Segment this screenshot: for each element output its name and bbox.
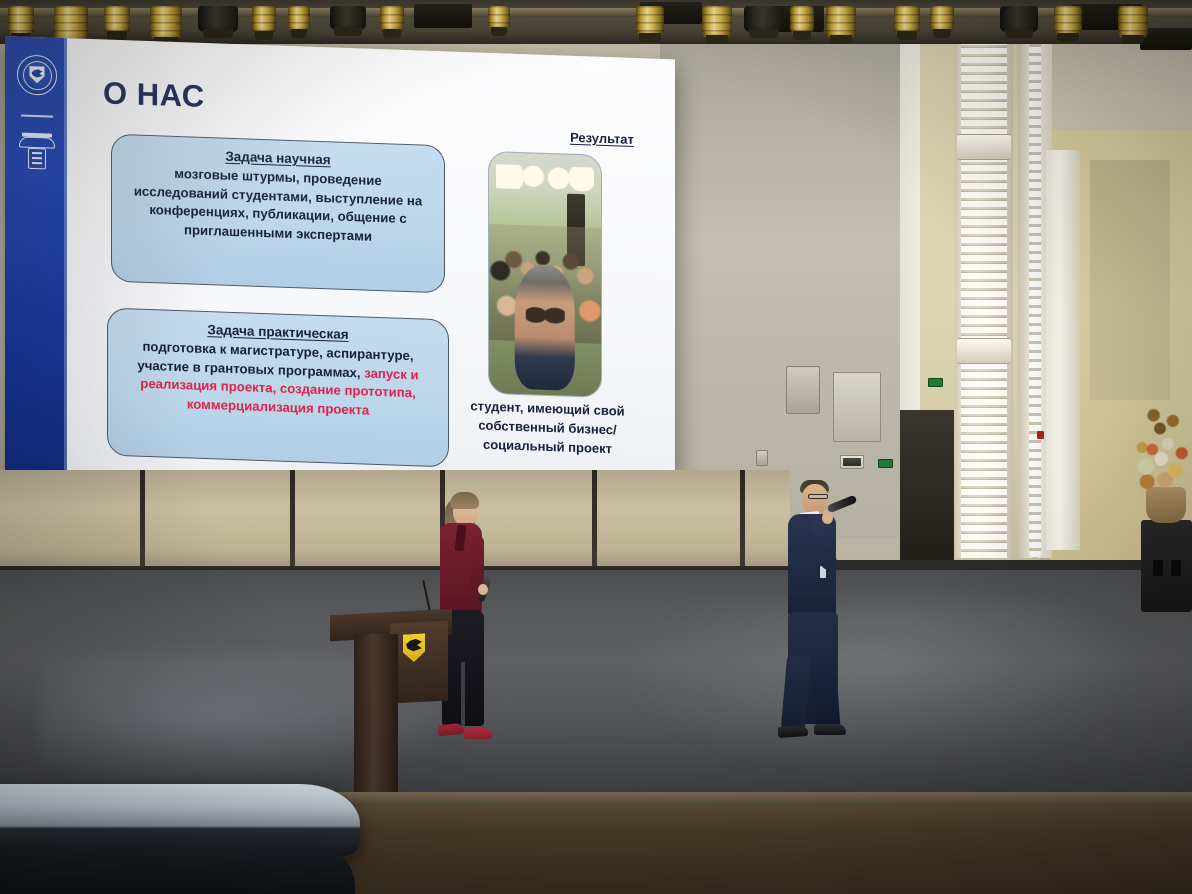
microphone-icon [827, 495, 858, 514]
column-capital-face [1046, 150, 1080, 550]
electrical-cabinet [833, 372, 881, 442]
wall-display-panel [840, 455, 864, 469]
fluted-column [955, 38, 1013, 558]
fire-alarm-icon [1037, 431, 1044, 439]
stage-light-icon [930, 6, 954, 32]
wall-panelling [0, 470, 790, 580]
leg [811, 655, 840, 730]
shoe [778, 725, 809, 738]
info-box-practical: Задача практическая подготовка к магистр… [107, 308, 449, 468]
stage-light-icon [702, 6, 732, 38]
hand [478, 584, 488, 595]
column-band [957, 338, 1011, 364]
pilaster-chain-ornament [1029, 38, 1041, 558]
stage-light-icon [1118, 6, 1148, 38]
kfu-pillar-icon [19, 132, 55, 171]
glasses-icon [808, 494, 828, 499]
stage-light-icon [790, 6, 814, 34]
stage-light-icon [826, 6, 856, 38]
piano-body [0, 846, 355, 894]
slide-content: О НАС Задача научная мозговые штурмы, пр… [67, 38, 675, 524]
flower-bouquet [1128, 400, 1192, 495]
exit-sign-icon [878, 459, 893, 468]
stage-light-icon [380, 6, 404, 32]
result-caption: студент, имеющий свой собственный бизнес… [455, 397, 640, 460]
stage-light-icon [104, 6, 130, 34]
stage-light-icon [150, 6, 182, 40]
info-box-scientific: Задача научная мозговые штурмы, проведен… [111, 134, 445, 294]
stage-light-icon [198, 6, 238, 32]
page-title: О НАС [103, 75, 205, 115]
stage-light-icon [330, 6, 366, 30]
hair-top [450, 492, 479, 509]
lectern-front-panel [390, 620, 448, 703]
ceiling-equipment-box [414, 4, 472, 28]
wall-niche-shadow [1090, 160, 1170, 400]
stage-light-icon [894, 6, 920, 34]
wall-control-panel [786, 366, 820, 414]
stage-light-icon [54, 6, 88, 42]
column-band [957, 134, 1011, 160]
practical-highlight-3: коммерциализация проекта [187, 397, 369, 418]
man-presenter [772, 480, 858, 758]
auditorium-scene: О НАС Задача научная мозговые штурмы, пр… [0, 0, 1192, 894]
stage-light-icon [636, 6, 664, 36]
projection-screen: О НАС Задача научная мозговые штурмы, пр… [5, 36, 675, 524]
floor-speaker-cabinet [1141, 520, 1192, 612]
hand [822, 512, 833, 524]
floor-reflection [620, 600, 1140, 770]
info-box-scientific-body: мозговые штурмы, проведение исследований… [126, 163, 430, 249]
sidebar-divider [21, 115, 53, 118]
result-heading: Результат [537, 129, 667, 149]
shoe [464, 728, 492, 739]
exit-sign-icon [928, 378, 943, 387]
slide-brand-sidebar [5, 36, 67, 503]
stage-light-icon [8, 6, 34, 36]
stage-light-icon [288, 6, 310, 32]
result-photo [488, 151, 602, 398]
info-box-practical-body: подготовка к магистратуре, аспирантуре, … [120, 337, 436, 423]
kfu-seal-icon [17, 54, 57, 95]
stage-light-icon [1000, 6, 1038, 32]
doorway [900, 410, 954, 560]
wall-socket-icon [756, 450, 768, 466]
shoe [814, 724, 846, 735]
stage-light-icon [488, 6, 510, 30]
stage-light-icon [744, 6, 784, 32]
leg-gap [461, 662, 465, 726]
practical-highlight-1: запуск и [364, 365, 418, 382]
grand-piano: Цифровизация [0, 760, 390, 894]
stage-light-icon [1054, 6, 1082, 36]
piano-lid-reflection-text: Цифровизация [69, 828, 300, 844]
column-flutes [961, 38, 1007, 558]
stage-light-icon [252, 6, 276, 34]
